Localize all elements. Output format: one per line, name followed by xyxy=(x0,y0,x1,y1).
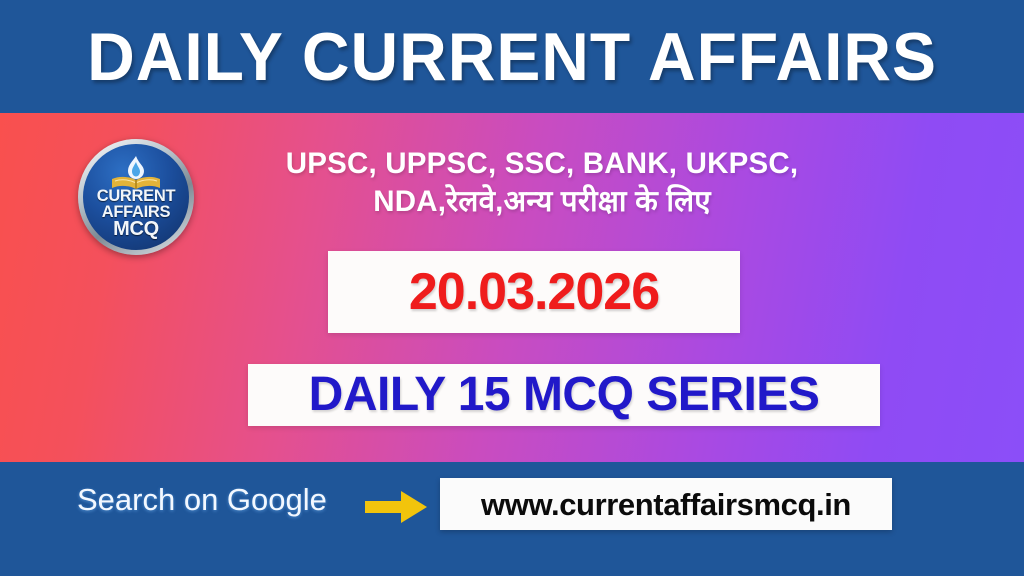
search-on-google-label: Search on Google xyxy=(77,484,327,515)
flame-over-book-icon xyxy=(110,155,162,191)
page-title: DAILY CURRENT AFFAIRS xyxy=(87,23,937,91)
website-url: www.currentaffairsmcq.in xyxy=(481,489,851,520)
exam-list-line-1: UPSC, UPPSC, SSC, BANK, UKPSC, xyxy=(222,146,862,182)
daily-current-affairs-poster: DAILY CURRENT AFFAIRS CURRENT AFFAIRS MC… xyxy=(0,0,1024,576)
exam-list-line-2: NDA,रेलवे,अन्य परीक्षा के लिए xyxy=(222,184,862,220)
series-value: DAILY 15 MCQ SERIES xyxy=(309,371,820,419)
logo-line-3: MCQ xyxy=(83,219,189,239)
arrow-right-icon xyxy=(365,489,427,525)
brand-logo: CURRENT AFFAIRS MCQ xyxy=(78,139,194,255)
series-box: DAILY 15 MCQ SERIES xyxy=(248,364,880,426)
date-box: 20.03.2026 xyxy=(328,251,740,333)
exam-list: UPSC, UPPSC, SSC, BANK, UKPSC, NDA,रेलवे… xyxy=(222,146,862,221)
header-band: DAILY CURRENT AFFAIRS xyxy=(0,0,1024,113)
date-value: 20.03.2026 xyxy=(409,266,659,318)
website-url-box[interactable]: www.currentaffairsmcq.in xyxy=(440,478,892,530)
logo-face: CURRENT AFFAIRS MCQ xyxy=(83,144,189,250)
